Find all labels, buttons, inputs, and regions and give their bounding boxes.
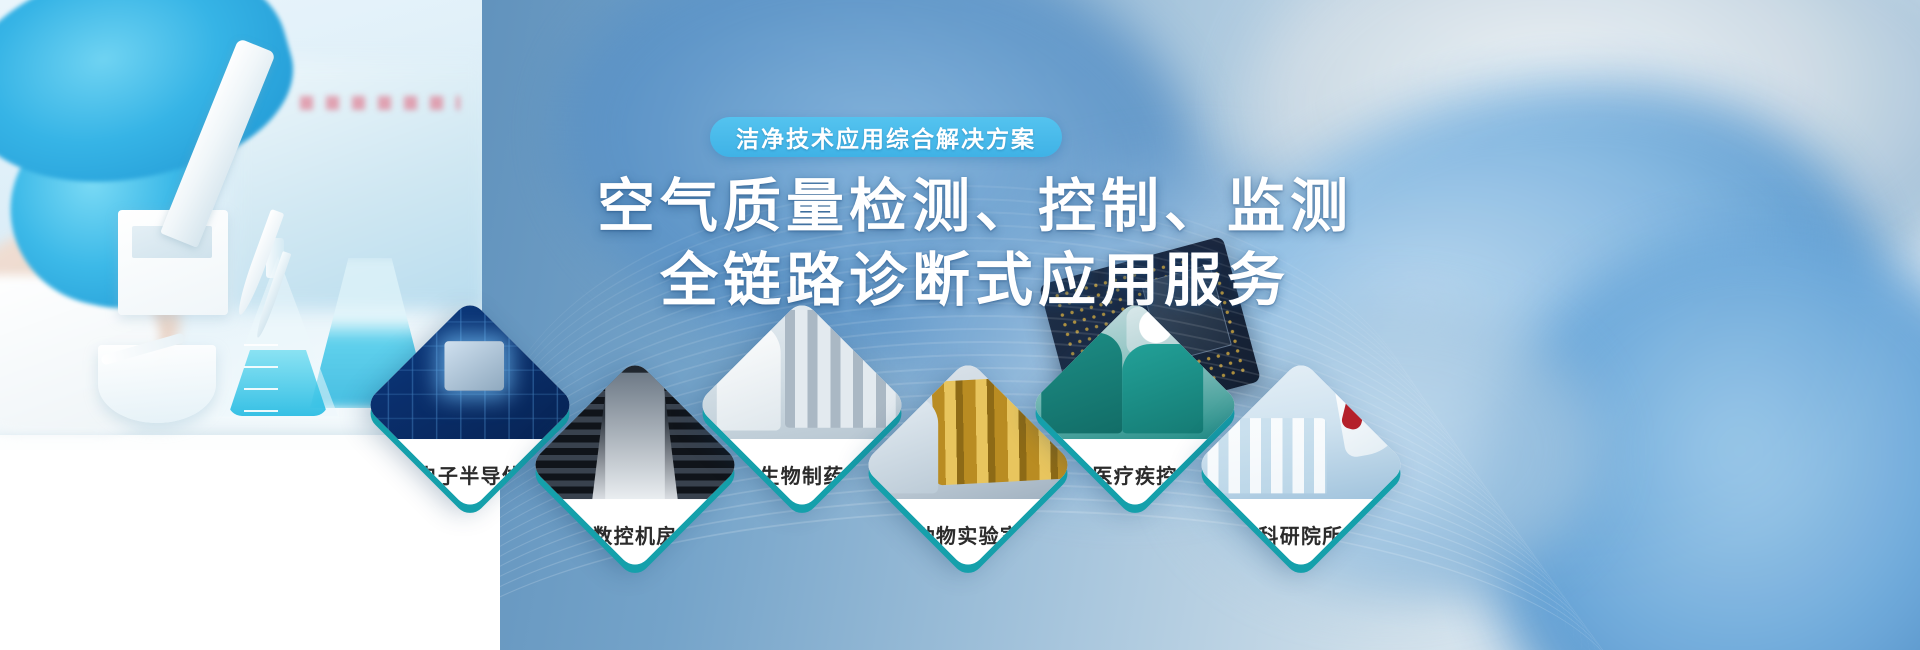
card-image <box>364 299 576 439</box>
card-label: 数控机房 <box>592 521 677 549</box>
card-label: 科研院所 <box>1258 521 1343 549</box>
card-caption: 数控机房 <box>529 499 741 571</box>
card-label: 动物实验室 <box>915 521 1022 549</box>
card-label: 生物制药 <box>759 461 844 489</box>
card-label: 医疗疾控 <box>1092 461 1177 489</box>
card-image <box>529 359 741 499</box>
card-caption: 科研院所 <box>1195 499 1407 571</box>
card-label: 电子半导体 <box>417 461 524 489</box>
hero-banner: 洁净技术应用综合解决方案 空气质量检测、控制、监测 全链路诊断式应用服务 电子半… <box>0 0 1920 650</box>
card-image <box>862 359 1074 499</box>
card-image <box>1029 299 1241 439</box>
industry-card-row: 电子半导体数控机房生物制药动物实验室医疗疾控科研院所 <box>0 0 1920 650</box>
card-image <box>696 299 908 439</box>
card-caption: 动物实验室 <box>862 499 1074 571</box>
card-image <box>1195 359 1407 499</box>
